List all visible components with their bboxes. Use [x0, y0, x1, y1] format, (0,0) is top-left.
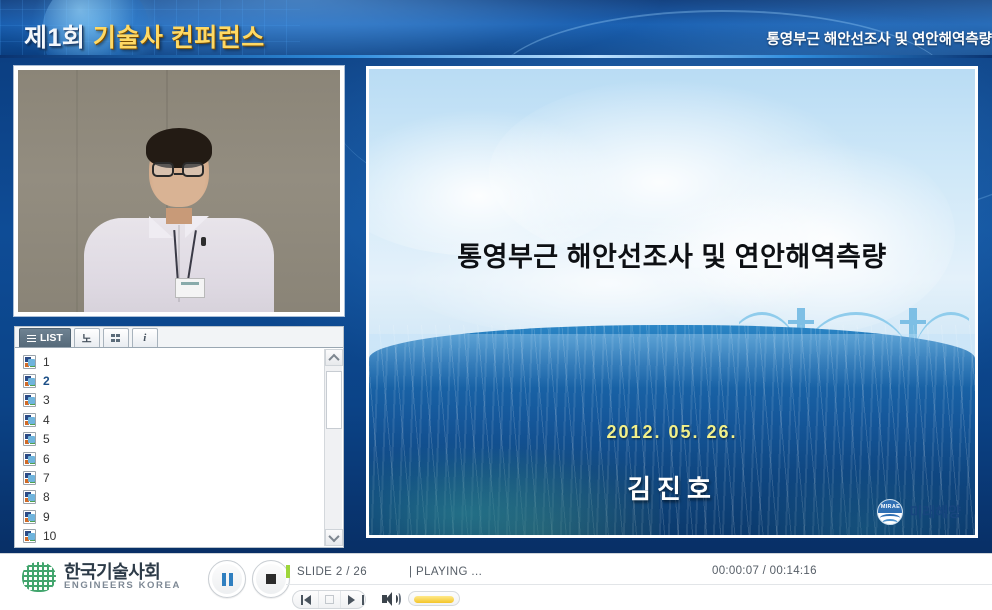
list-item[interactable]: 6: [21, 449, 323, 468]
time-display: 00:00:07 / 00:14:16: [712, 565, 817, 577]
slide-file-icon: [23, 393, 36, 407]
play-status: | PLAYING ...: [409, 566, 482, 578]
globe-icon: [22, 562, 56, 592]
playlist-panel: LIST 노 i 1 2: [14, 326, 344, 548]
slide-file-icon: [23, 452, 36, 466]
repeat-button[interactable]: [318, 591, 340, 608]
scroll-down-button[interactable]: [325, 529, 343, 546]
chevron-up-icon: [328, 353, 339, 364]
list-icon: [27, 335, 36, 342]
lecturer-glasses-left: [152, 162, 174, 177]
list-item[interactable]: 2: [21, 371, 323, 390]
pause-button[interactable]: [208, 560, 246, 598]
video-panel[interactable]: [14, 66, 344, 316]
list-item[interactable]: 8: [21, 488, 323, 507]
grid-icon: [111, 334, 120, 342]
lecturer-video-frame[interactable]: [18, 70, 340, 312]
list-item-label: 8: [43, 491, 50, 503]
slide-file-icon: [23, 355, 36, 369]
slide-panel[interactable]: 통영부근 해안선조사 및 연안해역측량 2012. 05. 26. 김진호 MI…: [366, 66, 978, 538]
previous-slide-button[interactable]: [296, 591, 318, 608]
slide-file-icon: [23, 490, 36, 504]
list-item[interactable]: 9: [21, 507, 323, 526]
list-item-label: 4: [43, 414, 50, 426]
brand-name-en: ENGINEERS KOREA: [64, 581, 181, 591]
list-item[interactable]: 3: [21, 391, 323, 410]
slide-file-icon: [23, 529, 36, 543]
next-icon: [348, 595, 355, 605]
status-row: SLIDE 2 / 26 | PLAYING ...: [286, 565, 482, 578]
list-item-label: 10: [43, 530, 56, 542]
tab-info[interactable]: i: [132, 328, 158, 347]
lecturer-glasses-right: [182, 162, 204, 177]
header-lecture-subtitle: 통영부근 해안선조사 및 연안해역측량: [766, 28, 992, 49]
speaker-icon[interactable]: [382, 591, 400, 607]
wave-icon: [880, 514, 900, 518]
tab-list-label: LIST: [40, 332, 63, 344]
next-slide-button[interactable]: [340, 591, 362, 608]
tab-list[interactable]: LIST: [19, 328, 71, 347]
bottom-bar-divider: [286, 584, 992, 585]
tab-note[interactable]: 노: [74, 328, 100, 347]
page-title-main: 기술사 컨퍼런스: [93, 24, 265, 52]
lecture-player-window: 제1회 기술사 컨퍼런스 통영부근 해안선조사 및 연안해역측량: [0, 0, 992, 610]
slide-file-icon: [23, 432, 36, 446]
slide-counter: SLIDE 2 / 26: [297, 566, 367, 578]
list-item-label: 7: [43, 472, 50, 484]
list-item-label: 5: [43, 433, 50, 445]
playlist-scrollbar[interactable]: [324, 349, 342, 546]
brand-name-kr: 한국기술사회: [64, 563, 181, 582]
slide-company-name: 미래해양: [909, 502, 961, 522]
list-item-label: 2: [43, 375, 50, 387]
slide-file-icon: [23, 413, 36, 427]
list-item-label: 6: [43, 453, 50, 465]
chevron-down-icon: [328, 530, 339, 541]
lecturer-neck: [166, 208, 192, 224]
tab-note-label: 노: [82, 331, 92, 346]
wave-icon: [882, 519, 898, 523]
kpea-brand: 한국기술사회 ENGINEERS KOREA: [22, 562, 181, 592]
playlist-tabs: LIST 노 i: [15, 327, 343, 348]
slide-title: 통영부근 해안선조사 및 연안해역측량: [369, 235, 975, 274]
playlist-list-area: 1 2 3 4 5: [15, 348, 343, 547]
page-title-edition: 제1회: [24, 24, 85, 52]
page-header: 제1회 기술사 컨퍼런스 통영부근 해안선조사 및 연안해역측량: [0, 0, 992, 58]
slide-file-icon: [23, 471, 36, 485]
lecturer-lapel-mic: [201, 237, 206, 246]
stop-button[interactable]: [252, 560, 290, 598]
lecturer-glasses-bridge: [174, 173, 184, 175]
volume-slider[interactable]: [408, 591, 460, 606]
list-item-label: 9: [43, 511, 50, 523]
slide-nav-group: [292, 590, 366, 609]
slide-company-logo: MIRAE 미래해양: [877, 499, 961, 525]
tab-thumbnails[interactable]: [103, 328, 129, 347]
scrollbar-thumb[interactable]: [326, 371, 342, 429]
player-bottom-bar: 한국기술사회 ENGINEERS KOREA SLIDE 2 / 26 | PL…: [0, 553, 992, 610]
list-item[interactable]: 1: [21, 352, 323, 371]
previous-icon: [304, 595, 311, 605]
list-item[interactable]: 5: [21, 430, 323, 449]
playlist-items[interactable]: 1 2 3 4 5: [15, 348, 323, 547]
page-title: 제1회 기술사 컨퍼런스: [24, 18, 265, 54]
list-item-label: 1: [43, 356, 50, 368]
mirae-badge-icon: MIRAE: [877, 499, 903, 525]
slide-date: 2012. 05. 26.: [369, 422, 975, 443]
slide-canvas: 통영부근 해안선조사 및 연안해역측량 2012. 05. 26. 김진호 MI…: [369, 69, 975, 535]
transport-controls: [208, 560, 290, 598]
slide-file-icon: [23, 374, 36, 388]
list-item[interactable]: 4: [21, 410, 323, 429]
video-wall-seam-2: [76, 70, 78, 312]
scroll-up-button[interactable]: [325, 349, 343, 366]
list-item[interactable]: 10: [21, 527, 323, 546]
pause-icon: [222, 573, 233, 586]
list-item-label: 3: [43, 394, 50, 406]
status-accent-bar: [286, 565, 290, 578]
tab-info-label: i: [143, 332, 146, 344]
lecturer-name-badge: [175, 278, 205, 298]
mirae-badge-label: MIRAE: [878, 500, 902, 513]
stop-icon: [266, 574, 276, 584]
repeat-icon: [325, 595, 334, 604]
list-item[interactable]: 7: [21, 468, 323, 487]
slide-file-icon: [23, 510, 36, 524]
